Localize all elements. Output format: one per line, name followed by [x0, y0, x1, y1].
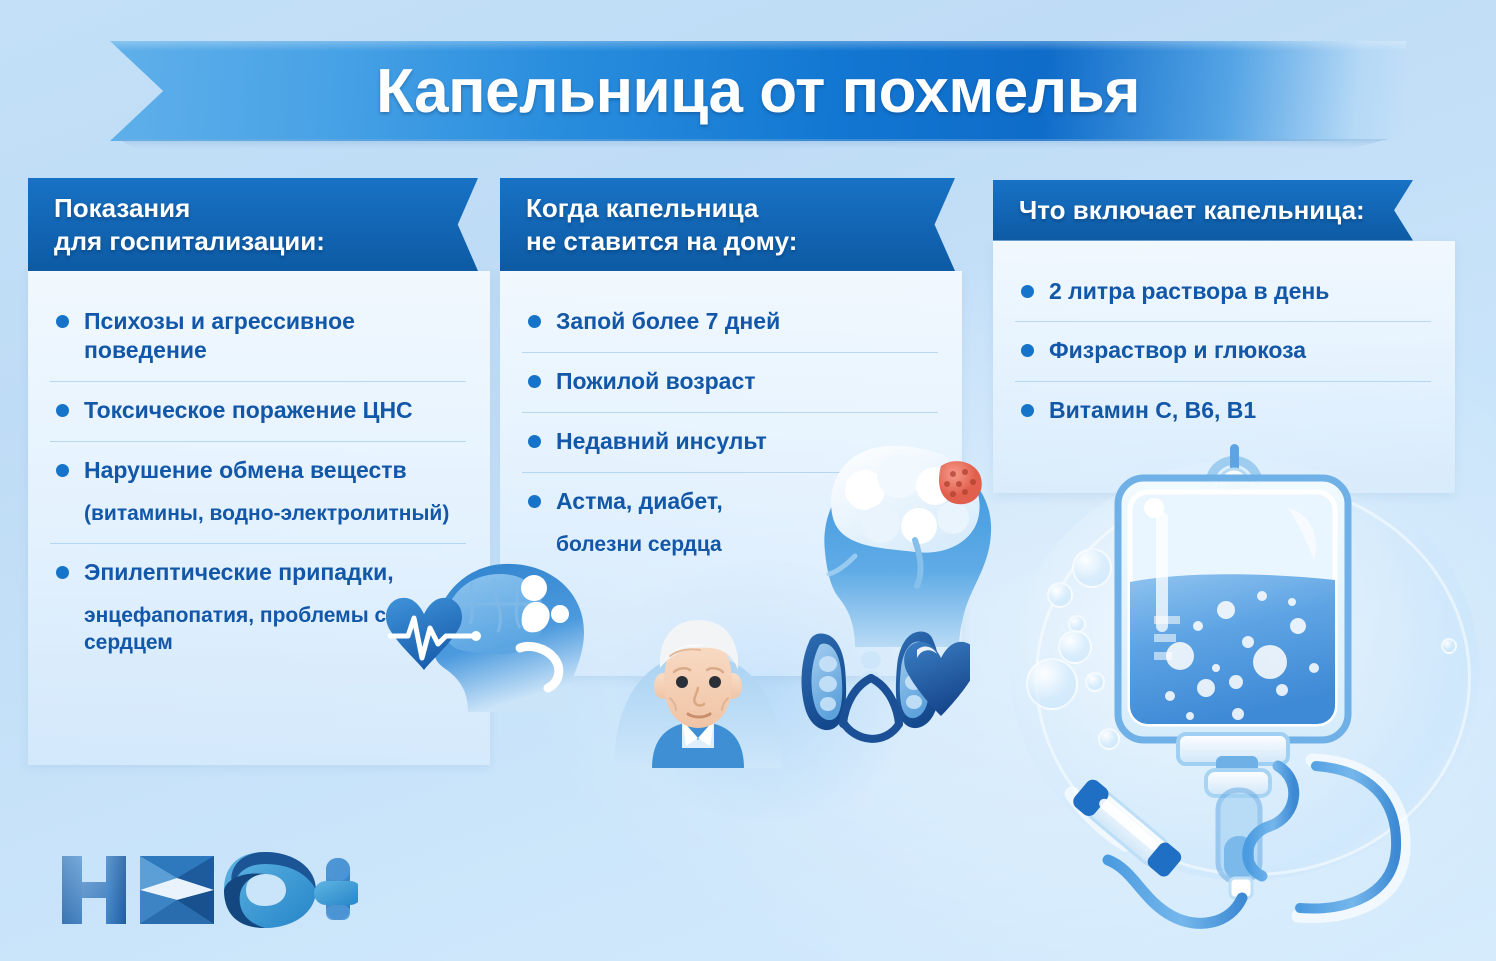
- list-item-text: Психозы и агрессивное поведение: [84, 293, 466, 381]
- poster-canvas: Капельница от похмелья Показания для гос…: [0, 0, 1496, 961]
- list-item-text: Физраствор и глюкоза: [1049, 322, 1431, 381]
- lungs-heart-icon: [795, 620, 970, 755]
- bullet-dot-icon: [1021, 344, 1034, 357]
- section-header-indications: Показания для госпитализации:: [28, 178, 478, 271]
- bullet-dot-icon: [528, 375, 541, 388]
- bullet-dot-icon: [56, 315, 69, 328]
- header-line-1: Когда капельница: [526, 192, 921, 225]
- list-item: Токсическое поражение ЦНС: [50, 382, 466, 442]
- bullet-dot-icon: [56, 404, 69, 417]
- list-item: 2 литра раствора в день: [1015, 263, 1431, 323]
- list-item: Запой более 7 дней: [522, 293, 938, 353]
- bullet-dot-icon: [1021, 285, 1034, 298]
- iv-drip-bag-illustration: [1030, 430, 1482, 942]
- header-line-2: не ставится на дому:: [526, 225, 921, 258]
- list-item: Пожилой возраст: [522, 353, 938, 413]
- section-header-contents: Что включает капельница:: [993, 180, 1413, 241]
- page-title: Капельница от похмелья: [110, 41, 1406, 141]
- list-item: Нарушение обмена веществ (витамины, водн…: [50, 442, 466, 544]
- list-item-text: Пожилой возраст: [556, 353, 938, 412]
- list-item: Физраствор и глюкоза: [1015, 322, 1431, 382]
- brain-heartbeat-icon: [372, 552, 602, 712]
- bullet-dot-icon: [56, 566, 69, 579]
- list-item-text: Нарушение обмена веществ: [84, 442, 466, 501]
- section-header-contraindications: Когда капельница не ставится на дому:: [500, 178, 955, 271]
- elderly-person-icon: [608, 598, 788, 768]
- header-line-2: для госпитализации:: [54, 225, 444, 258]
- bullet-list-contents: 2 литра раствора в день Физраствор и глю…: [1015, 263, 1431, 442]
- bullet-dot-icon: [56, 464, 69, 477]
- bullet-dot-icon: [528, 435, 541, 448]
- header-line-1: Что включает капельница:: [1019, 194, 1379, 227]
- bullet-dot-icon: [528, 315, 541, 328]
- head-brain-stroke-icon: [795, 432, 1010, 647]
- bullet-dot-icon: [1021, 404, 1034, 417]
- list-item-text: Токсическое поражение ЦНС: [84, 382, 466, 441]
- list-item-text: Запой более 7 дней: [556, 293, 938, 352]
- header-line-1: Показания: [54, 192, 444, 225]
- neo-plus-logo: [58, 838, 358, 938]
- list-item-text: 2 литра раствора в день: [1049, 263, 1431, 322]
- bullet-dot-icon: [528, 495, 541, 508]
- list-item-subtext: (витамины, водно-электролитный): [84, 501, 466, 543]
- list-item: Психозы и агрессивное поведение: [50, 293, 466, 382]
